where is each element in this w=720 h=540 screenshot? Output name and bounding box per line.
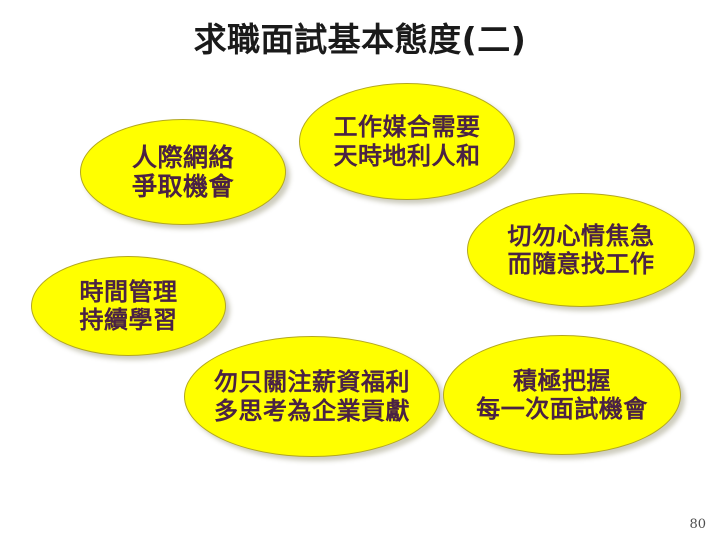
bubble-networking-line-1: 人際網絡 [132,143,234,173]
bubble-contribution-line-2: 多思考為企業貢獻 [214,397,410,425]
bubble-time-management-line-1: 時間管理 [80,278,178,306]
bubble-patience-line-1: 切勿心情焦急 [508,222,655,250]
bubble-patience[interactable]: 切勿心情焦急 而隨意找工作 [467,193,695,307]
page-number: 80 [689,517,706,532]
page-title: 求職面試基本態度(二) [0,22,720,58]
bubble-contribution[interactable]: 勿只關注薪資福利 多思考為企業貢獻 [184,336,440,457]
bubble-contribution-line-1: 勿只關注薪資福利 [214,368,410,396]
bubble-job-matching-line-2: 天時地利人和 [334,142,481,170]
bubble-time-management-line-2: 持續學習 [80,306,178,334]
bubble-seize-chance-line-2: 每一次面試機會 [476,395,648,423]
bubble-seize-chance[interactable]: 積極把握 每一次面試機會 [443,335,681,455]
bubble-patience-line-2: 而隨意找工作 [508,250,655,278]
bubble-networking[interactable]: 人際網絡 爭取機會 [80,119,286,225]
bubble-time-management[interactable]: 時間管理 持續學習 [31,256,226,356]
bubble-networking-line-2: 爭取機會 [132,172,234,202]
bubble-seize-chance-line-1: 積極把握 [513,367,611,395]
bubble-job-matching[interactable]: 工作媒合需要 天時地利人和 [299,83,515,200]
slide-canvas: 求職面試基本態度(二) 人際網絡 爭取機會 工作媒合需要 天時地利人和 切勿心情… [0,0,720,540]
bubble-job-matching-line-1: 工作媒合需要 [334,113,481,141]
